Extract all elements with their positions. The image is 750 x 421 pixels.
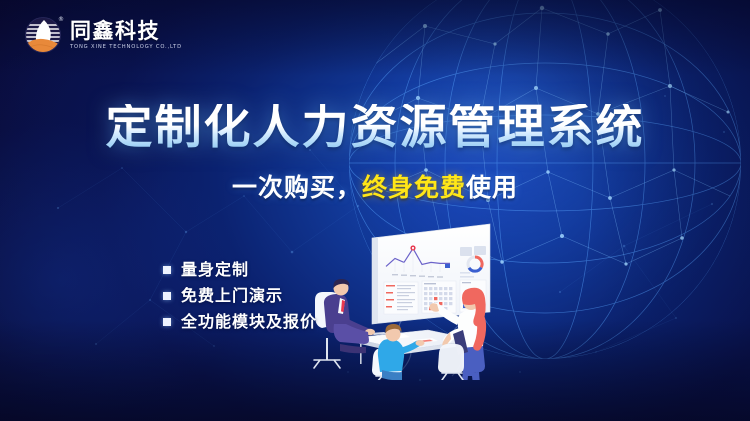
list-item: 免费上门演示 [163,288,317,304]
tongxin-globe-sail-logo-icon: ® [24,16,62,54]
white-office-chair-icon [438,344,464,380]
brand-name-en: TONG XINE TECHNOLOGY CO.,LTD [70,45,182,50]
list-item: 全功能模块及报价 [163,314,317,330]
registered-trademark-icon: ® [58,17,64,23]
hero-headline-text: 定制化人力资源管理系统 [106,104,645,151]
square-bullet-icon [163,318,171,326]
list-rows-widget [384,282,418,314]
brand-text: 同鑫科技 TONG XINE TECHNOLOGY CO.,LTD [70,20,182,50]
list-item: 量身定制 [163,262,317,278]
feature-label: 免费上门演示 [181,288,283,304]
hero-subhead: 一次购买，终身免费使用 [0,175,750,200]
feature-label: 量身定制 [181,262,249,278]
feature-list: 量身定制 免费上门演示 全功能模块及报价 [163,262,317,330]
business-team-dashboard-illustration [300,220,550,380]
brand-logo[interactable]: ® 同鑫科技 TONG XINE TECHNOLOGY CO.,LTD [24,16,182,54]
line-chart-widget [384,243,456,278]
hero-headline: 定制化人力资源管理系统 [0,104,750,151]
feature-label: 全功能模块及报价 [181,314,317,330]
promo-banner: ® 同鑫科技 TONG XINE TECHNOLOGY CO.,LTD 定制化人… [0,0,750,421]
brand-name-cn: 同鑫科技 [70,20,182,42]
hero-subhead-prefix: 一次购买， [232,173,362,202]
square-bullet-icon [163,292,171,300]
square-bullet-icon [163,266,171,274]
hero-subhead-suffix: 使用 [466,173,518,202]
hero-subhead-highlight: 终身免费 [362,173,466,202]
seated-businessman-icon [314,279,375,368]
